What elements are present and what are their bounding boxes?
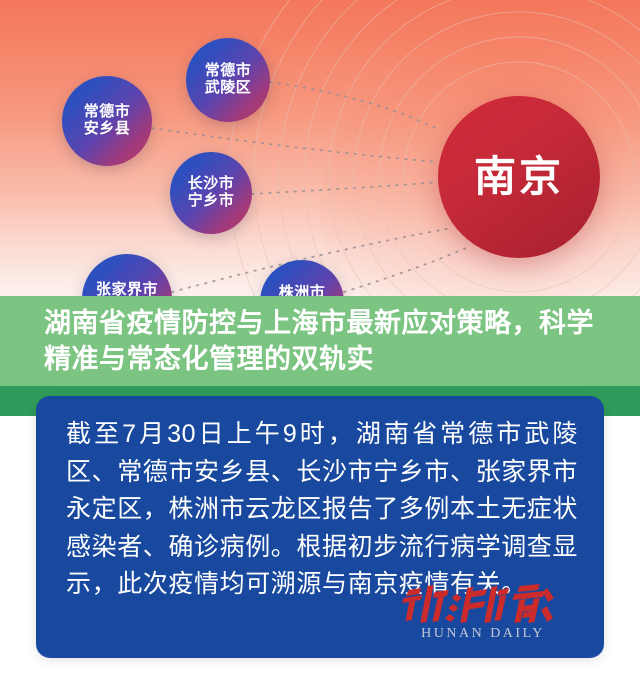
announcement-panel: 截至7月30日上午9时，湖南省常德市武陵区、常德市安乡县、长沙市宁乡市、张家界市… (36, 396, 604, 658)
masthead-logo: HUNAN DAILY (388, 582, 578, 642)
xinhunan-brush-glyphs (388, 582, 578, 626)
city-bubble-changde-wuling[interactable]: 常德市 武陵区 (186, 38, 270, 122)
city-label-line2: 宁乡市 (188, 193, 235, 210)
city-label-line1: 常德市 (84, 104, 131, 121)
masthead-en-text: HUNAN DAILY (388, 626, 578, 642)
city-label-line2: 武陵区 (205, 80, 252, 97)
city-label-line2: 安乡县 (84, 121, 131, 138)
masthead-cn-calligraphy (388, 582, 578, 624)
page-title: 湖南省疫情防控与上海市最新应对策略，科学精准与常态化管理的双轨实 (44, 306, 604, 377)
announcement-body: 截至7月30日上午9时，湖南省常德市武陵区、常德市安乡县、长沙市宁乡市、张家界市… (66, 416, 578, 604)
city-bubble-changde-anxiang[interactable]: 常德市 安乡县 (62, 76, 152, 166)
city-label-line1: 常德市 (205, 63, 252, 80)
hub-label: 南京 (474, 153, 564, 200)
city-label-line1: 长沙市 (188, 176, 235, 193)
hub-bubble-nanjing[interactable]: 南京 (438, 96, 600, 258)
city-bubble-changsha-ningxiang[interactable]: 长沙市 宁乡市 (170, 152, 252, 234)
poster-root: 常德市 安乡县 常德市 武陵区 长沙市 宁乡市 张家界市 永定区 株洲市 云龙区… (0, 0, 640, 690)
